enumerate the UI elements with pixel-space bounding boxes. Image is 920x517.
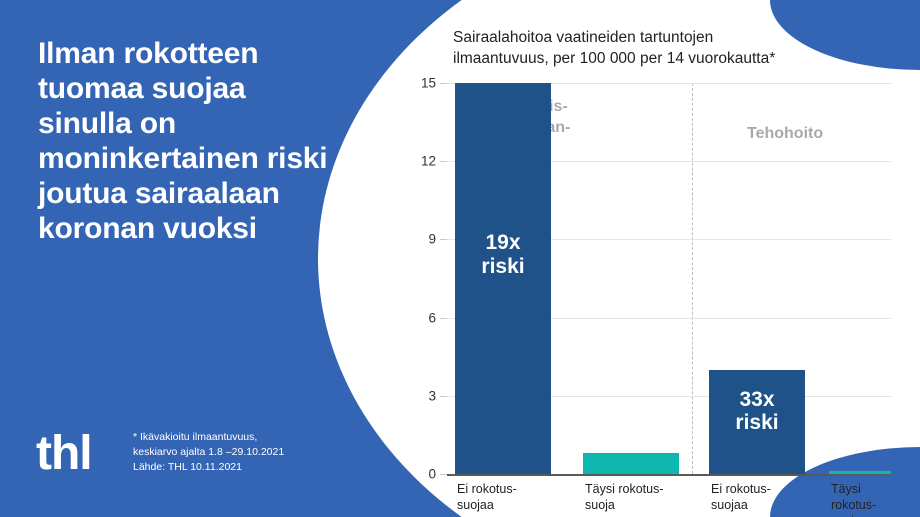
chart-title: Sairaalahoitoa vaatineiden tartuntojen i… [453, 28, 893, 69]
plot-area: Erikois- sairaan- hoito Tehohoito 036912… [447, 83, 891, 474]
x-axis-category-line: suoja [831, 513, 891, 517]
bar-annotation-line: riski [455, 255, 551, 279]
footnote-line-3: Lähde: THL 10.11.2021 [133, 460, 343, 475]
footnote-line-1: * Ikävakioitu ilmaantuvuus, [133, 430, 343, 445]
y-axis-tick [440, 318, 447, 319]
y-axis-label: 3 [428, 388, 436, 403]
x-axis-category-label: Täysi rokotus-suoja [585, 481, 664, 513]
infographic-canvas: Ilman rokotteen tuomaa suojaa sinulla on… [0, 0, 920, 517]
y-axis-tick [440, 239, 447, 240]
chart-title-line-2: ilmaantuvuus, per 100 000 per 14 vuoroka… [453, 49, 893, 70]
chart-title-line-1: Sairaalahoitoa vaatineiden tartuntojen [453, 28, 893, 49]
y-axis-label: 9 [428, 232, 436, 247]
bar[interactable] [583, 453, 679, 474]
x-axis-category-label: Täysi rokotus-suoja [831, 481, 891, 517]
x-axis-category-line: suojaa [457, 497, 517, 513]
panel-divider [692, 83, 693, 474]
footnote: * Ikävakioitu ilmaantuvuus, keskiarvo aj… [133, 430, 343, 475]
y-axis-tick [440, 474, 447, 475]
y-axis-label: 12 [421, 154, 436, 169]
x-axis-category-line: Ei rokotus- [457, 481, 517, 497]
x-axis-category-label: Ei rokotus-suojaa [711, 481, 771, 513]
bar[interactable] [829, 471, 891, 474]
x-axis-category-label: Ei rokotus-suojaa [457, 481, 517, 513]
panel-label-line-1: Tehohoito [747, 124, 823, 145]
y-axis-label: 0 [428, 467, 436, 482]
x-axis-category-line: Täysi rokotus- [831, 481, 891, 513]
y-axis-label: 6 [428, 310, 436, 325]
x-axis-line [447, 474, 891, 476]
x-axis-category-line: suojaa [711, 497, 771, 513]
bar-annotation-line: 19x [455, 231, 551, 255]
bar[interactable]: 33xriski [709, 370, 805, 474]
y-axis-tick [440, 161, 447, 162]
bar-annotation: 19xriski [455, 231, 551, 278]
bar-annotation: 33xriski [709, 388, 805, 435]
y-axis-tick [440, 396, 447, 397]
page-title: Ilman rokotteen tuomaa suojaa sinulla on… [38, 36, 338, 247]
bar[interactable]: 19xriski [455, 83, 551, 474]
bar-annotation-line: riski [709, 411, 805, 435]
x-axis-category-line: Täysi rokotus- [585, 481, 664, 497]
x-axis-category-line: Ei rokotus- [711, 481, 771, 497]
y-axis-label: 15 [421, 76, 436, 91]
thl-logo: thl [36, 430, 92, 478]
footnote-line-2: keskiarvo ajalta 1.8 –29.10.2021 [133, 445, 343, 460]
x-axis-category-line: suoja [585, 497, 664, 513]
y-axis-tick [440, 83, 447, 84]
bar-chart: Sairaalahoitoa vaatineiden tartuntojen i… [408, 14, 908, 514]
panel-label-tehohoito: Tehohoito [747, 124, 823, 145]
bar-annotation-line: 33x [709, 388, 805, 412]
headline-panel: Ilman rokotteen tuomaa suojaa sinulla on… [0, 0, 330, 517]
